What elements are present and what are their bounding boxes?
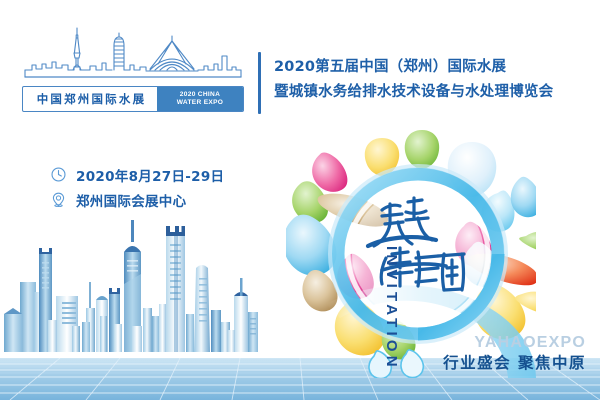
badge-en-line1: 2020 CHINA — [180, 91, 220, 99]
expo-badge: 中国郑州国际水展 2020 CHINA WATER EXPO — [22, 86, 244, 112]
zhengzhou-skyline-line-art — [22, 24, 244, 82]
badge-english-name: 2020 CHINA WATER EXPO — [157, 87, 243, 111]
title-line-1: 2020第五届中国（郑州）国际水展 — [274, 55, 590, 80]
brand-name-english: YAHAOEXPO — [443, 334, 586, 352]
event-date: 2020年8月27日-29日 — [76, 165, 224, 185]
title-line-2: 暨城镇水务给排水技术设备与水处理博览会 — [274, 80, 590, 105]
invitation-vertical-text: INVITATION — [383, 246, 400, 371]
brand-slogan-chinese: 行业盛会 聚焦中原 — [443, 353, 586, 374]
clock-icon — [50, 166, 67, 183]
city-skyline-illustration — [0, 196, 316, 376]
expo-logo-block: 中国郑州国际水展 2020 CHINA WATER EXPO — [22, 24, 244, 112]
event-date-row: 2020年8月27日-29日 — [50, 162, 224, 187]
title-divider — [258, 52, 261, 114]
poster-title: 2020第五届中国（郑州）国际水展 暨城镇水务给排水技术设备与水处理博览会 — [274, 55, 590, 105]
organizer-brand: YAHAOEXPO 行业盛会 聚焦中原 — [443, 334, 586, 374]
badge-en-line2: WATER EXPO — [177, 99, 223, 107]
invitation-poster: 中国郑州国际水展 2020 CHINA WATER EXPO 2020第五届中国… — [0, 0, 600, 400]
badge-chinese-name: 中国郑州国际水展 — [23, 87, 157, 111]
